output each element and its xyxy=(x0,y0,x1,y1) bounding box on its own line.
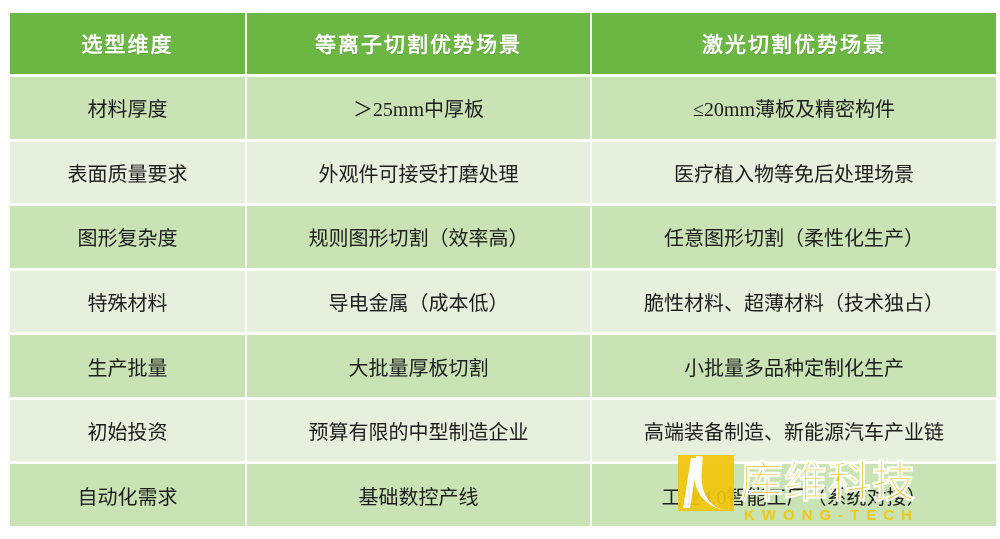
table-body: 材料厚度 ＞25mm中厚板 ≤20mm薄板及精密构件 表面质量要求 外观件可接受… xyxy=(10,77,996,526)
table-row: 生产批量 大批量厚板切割 小批量多品种定制化生产 xyxy=(10,335,996,397)
cell-laser: 高端装备制造、新能源汽车产业链 xyxy=(592,400,996,462)
plasma-vs-laser-comparison-table: 选型维度 等离子切割优势场景 激光切割优势场景 材料厚度 ＞25mm中厚板 ≤2… xyxy=(8,10,998,529)
comparison-table-container: 选型维度 等离子切割优势场景 激光切割优势场景 材料厚度 ＞25mm中厚板 ≤2… xyxy=(0,0,1000,539)
header-cell-plasma: 等离子切割优势场景 xyxy=(247,13,590,74)
table-row: 自动化需求 基础数控产线 工业4.0智能工厂（系统对接） xyxy=(10,464,996,526)
cell-laser: 脆性材料、超薄材料（技术独占） xyxy=(592,271,996,333)
cell-plasma: 预算有限的中型制造企业 xyxy=(247,400,590,462)
cell-dimension: 材料厚度 xyxy=(10,77,245,139)
table-row: 材料厚度 ＞25mm中厚板 ≤20mm薄板及精密构件 xyxy=(10,77,996,139)
cell-plasma: 基础数控产线 xyxy=(247,464,590,526)
cell-plasma: ＞25mm中厚板 xyxy=(247,77,590,139)
cell-dimension: 自动化需求 xyxy=(10,464,245,526)
cell-plasma: 外观件可接受打磨处理 xyxy=(247,142,590,204)
header-cell-dimension: 选型维度 xyxy=(10,13,245,74)
table-row: 初始投资 预算有限的中型制造企业 高端装备制造、新能源汽车产业链 xyxy=(10,400,996,462)
cell-dimension: 初始投资 xyxy=(10,400,245,462)
cell-plasma: 导电金属（成本低） xyxy=(247,271,590,333)
header-cell-laser: 激光切割优势场景 xyxy=(592,13,996,74)
cell-dimension: 特殊材料 xyxy=(10,271,245,333)
cell-plasma: 大批量厚板切割 xyxy=(247,335,590,397)
cell-laser: 任意图形切割（柔性化生产） xyxy=(592,206,996,268)
table-row: 表面质量要求 外观件可接受打磨处理 医疗植入物等免后处理场景 xyxy=(10,142,996,204)
table-header: 选型维度 等离子切割优势场景 激光切割优势场景 xyxy=(10,13,996,74)
cell-laser: 工业4.0智能工厂（系统对接） xyxy=(592,464,996,526)
cell-plasma: 规则图形切割（效率高） xyxy=(247,206,590,268)
cell-laser: ≤20mm薄板及精密构件 xyxy=(592,77,996,139)
cell-dimension: 图形复杂度 xyxy=(10,206,245,268)
cell-laser: 医疗植入物等免后处理场景 xyxy=(592,142,996,204)
table-row: 图形复杂度 规则图形切割（效率高） 任意图形切割（柔性化生产） xyxy=(10,206,996,268)
cell-laser: 小批量多品种定制化生产 xyxy=(592,335,996,397)
cell-dimension: 表面质量要求 xyxy=(10,142,245,204)
cell-dimension: 生产批量 xyxy=(10,335,245,397)
table-row: 特殊材料 导电金属（成本低） 脆性材料、超薄材料（技术独占） xyxy=(10,271,996,333)
header-row: 选型维度 等离子切割优势场景 激光切割优势场景 xyxy=(10,13,996,74)
